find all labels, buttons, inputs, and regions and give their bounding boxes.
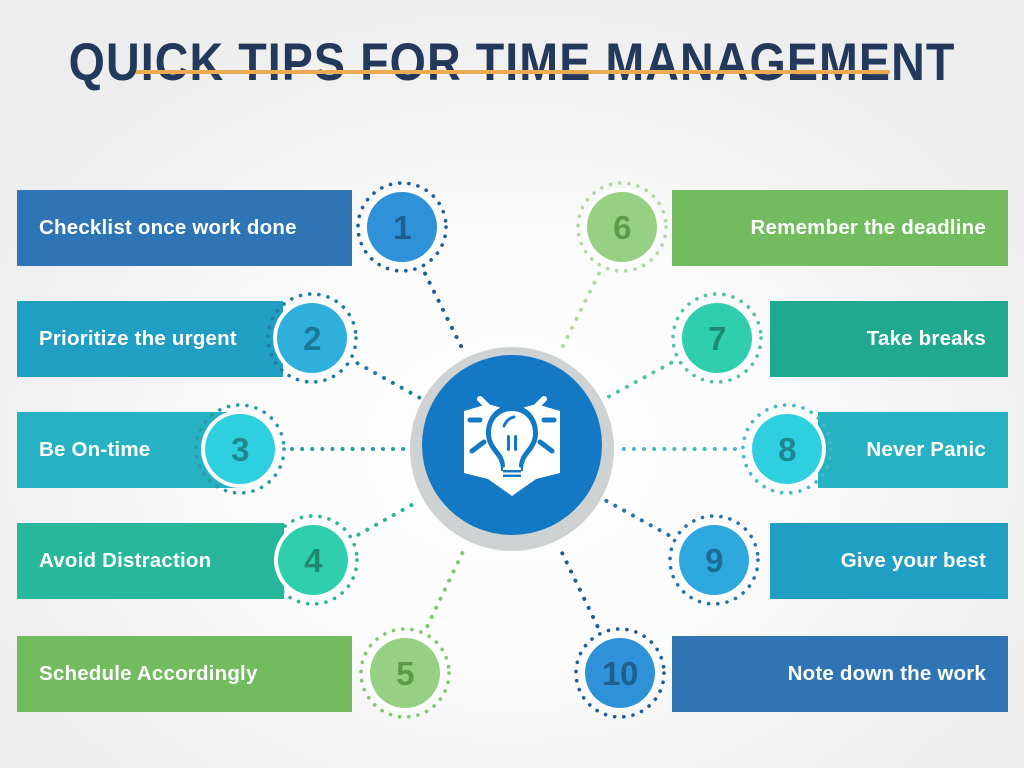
tip-bar-1[interactable]: Checklist once work done [17,190,352,266]
tip-label-3: Be On-time [17,438,150,462]
tip-number-node-10[interactable]: 10 [572,625,668,721]
connector-line-1 [425,274,465,354]
tip-number-1: 1 [393,211,411,244]
tip-number-node-6[interactable]: 6 [574,179,670,275]
infographic-canvas: QUICK TIPS FOR TIME MANAGEMENT Checklist… [0,0,1024,768]
node-disc: 6 [587,192,657,262]
node-disc: 2 [277,303,347,373]
tip-bar-6[interactable]: Remember the deadline [672,190,1008,266]
tip-number-node-9[interactable]: 9 [666,512,762,608]
node-disc: 3 [205,414,275,484]
tip-bar-9[interactable]: Give your best [770,523,1008,599]
hub-inner-circle [422,355,602,535]
node-disc: 4 [278,525,348,595]
connector-line-9 [605,500,669,535]
connector-line-7 [605,363,671,399]
connector-line-5 [427,545,466,626]
center-hub[interactable] [410,347,614,551]
tip-bar-5[interactable]: Schedule Accordingly [17,636,352,712]
node-disc: 8 [752,414,822,484]
tip-label-5: Schedule Accordingly [17,662,258,686]
node-disc: 9 [679,525,749,595]
tip-number-5: 5 [396,657,414,690]
tip-label-7: Take breaks [867,327,1008,351]
tip-number-2: 2 [303,322,321,355]
tip-number-node-8[interactable]: 8 [739,401,835,497]
tip-number-node-7[interactable]: 7 [669,290,765,386]
tip-label-10: Note down the work [788,662,1008,686]
tip-bar-2[interactable]: Prioritize the urgent [17,301,283,377]
page-title: QUICK TIPS FOR TIME MANAGEMENT [61,34,962,92]
tip-bar-7[interactable]: Take breaks [770,301,1008,377]
tip-bar-10[interactable]: Note down the work [672,636,1008,712]
tip-number-7: 7 [708,322,726,355]
title-block: QUICK TIPS FOR TIME MANAGEMENT [0,34,1024,92]
tip-number-node-1[interactable]: 1 [354,179,450,275]
title-underline [136,70,890,74]
tip-number-node-4[interactable]: 4 [265,512,361,608]
tip-number-8: 8 [778,433,796,466]
tip-number-4: 4 [304,544,322,577]
tip-number-node-5[interactable]: 5 [357,625,453,721]
connector-line-6 [559,274,599,354]
node-disc: 7 [682,303,752,373]
tip-label-9: Give your best [841,549,1008,573]
tip-label-6: Remember the deadline [751,216,1008,240]
tip-label-8: Never Panic [866,438,1008,462]
tip-number-6: 6 [613,211,631,244]
tip-number-10: 10 [602,657,638,690]
node-disc: 1 [367,192,437,262]
tip-number-node-3[interactable]: 3 [192,401,288,497]
node-disc: 10 [585,638,655,708]
tip-bar-4[interactable]: Avoid Distraction [17,523,284,599]
tip-number-9: 9 [705,544,723,577]
lightbulb-map-icon [458,393,566,497]
tip-label-1: Checklist once work done [17,216,297,240]
node-disc: 5 [370,638,440,708]
connector-line-10 [558,544,597,626]
tip-bar-8[interactable]: Never Panic [818,412,1008,488]
tip-label-2: Prioritize the urgent [17,327,237,351]
tip-label-4: Avoid Distraction [17,549,211,573]
tip-number-3: 3 [231,433,249,466]
tip-number-node-2[interactable]: 2 [264,290,360,386]
